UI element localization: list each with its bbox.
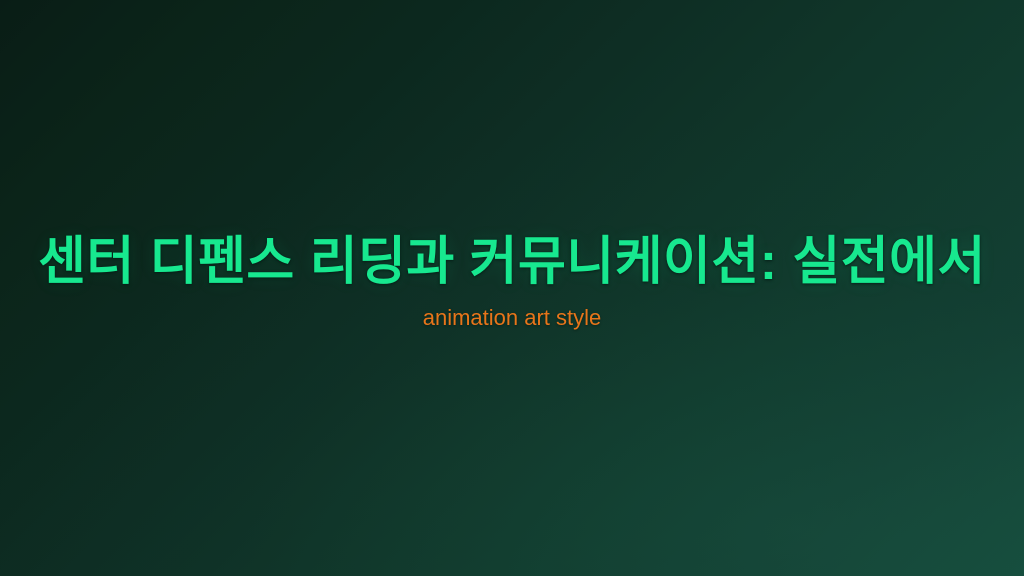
title-slide: 센터 디펜스 리딩과 커뮤니케이션: 실전에서 animation art st… <box>0 0 1024 576</box>
slide-subtitle: animation art style <box>0 304 1024 332</box>
slide-title: 센터 디펜스 리딩과 커뮤니케이션: 실전에서 <box>0 232 1024 292</box>
slide-text-block: 센터 디펜스 리딩과 커뮤니케이션: 실전에서 animation art st… <box>0 232 1024 332</box>
